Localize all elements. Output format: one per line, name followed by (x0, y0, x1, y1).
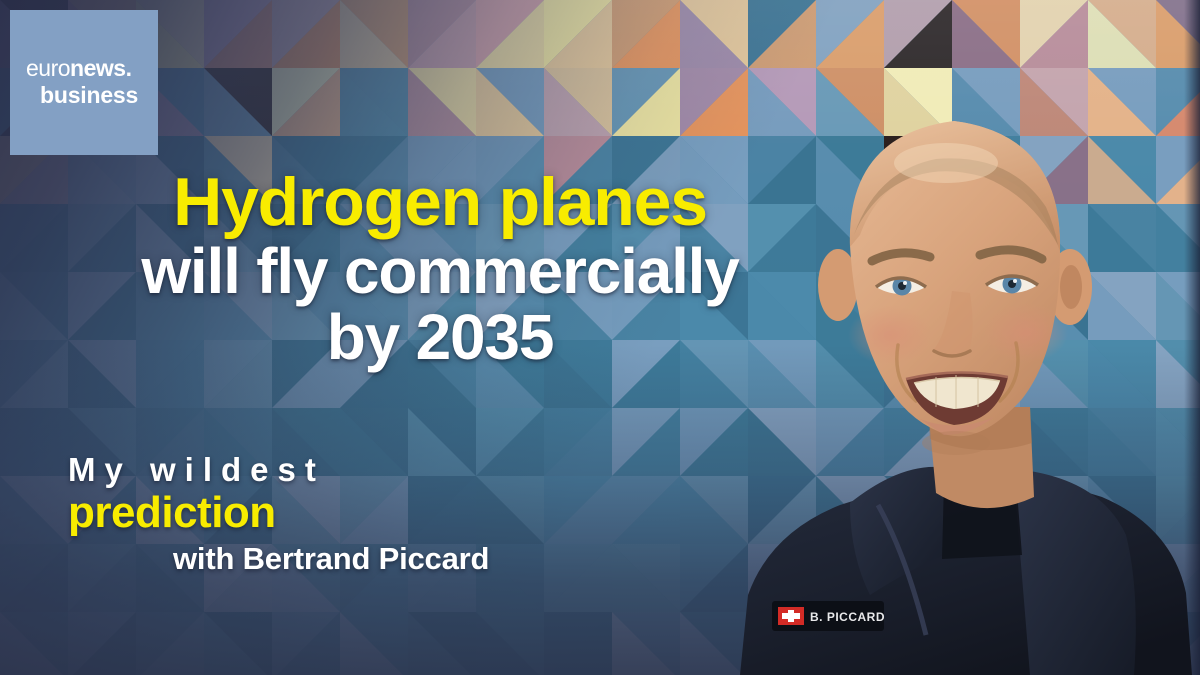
euronews-business-logo[interactable]: euronews. business (10, 10, 158, 155)
logo-wordmark: euronews. (26, 56, 131, 80)
triangle-mosaic-background (0, 0, 1200, 675)
logo-news-text: news. (70, 55, 131, 81)
logo-vertical-text: business (26, 82, 138, 108)
logo-euro-text: euro (26, 55, 70, 81)
thumbnail-canvas: B. PICCARD euronews. business Hydrogen p… (0, 0, 1200, 675)
